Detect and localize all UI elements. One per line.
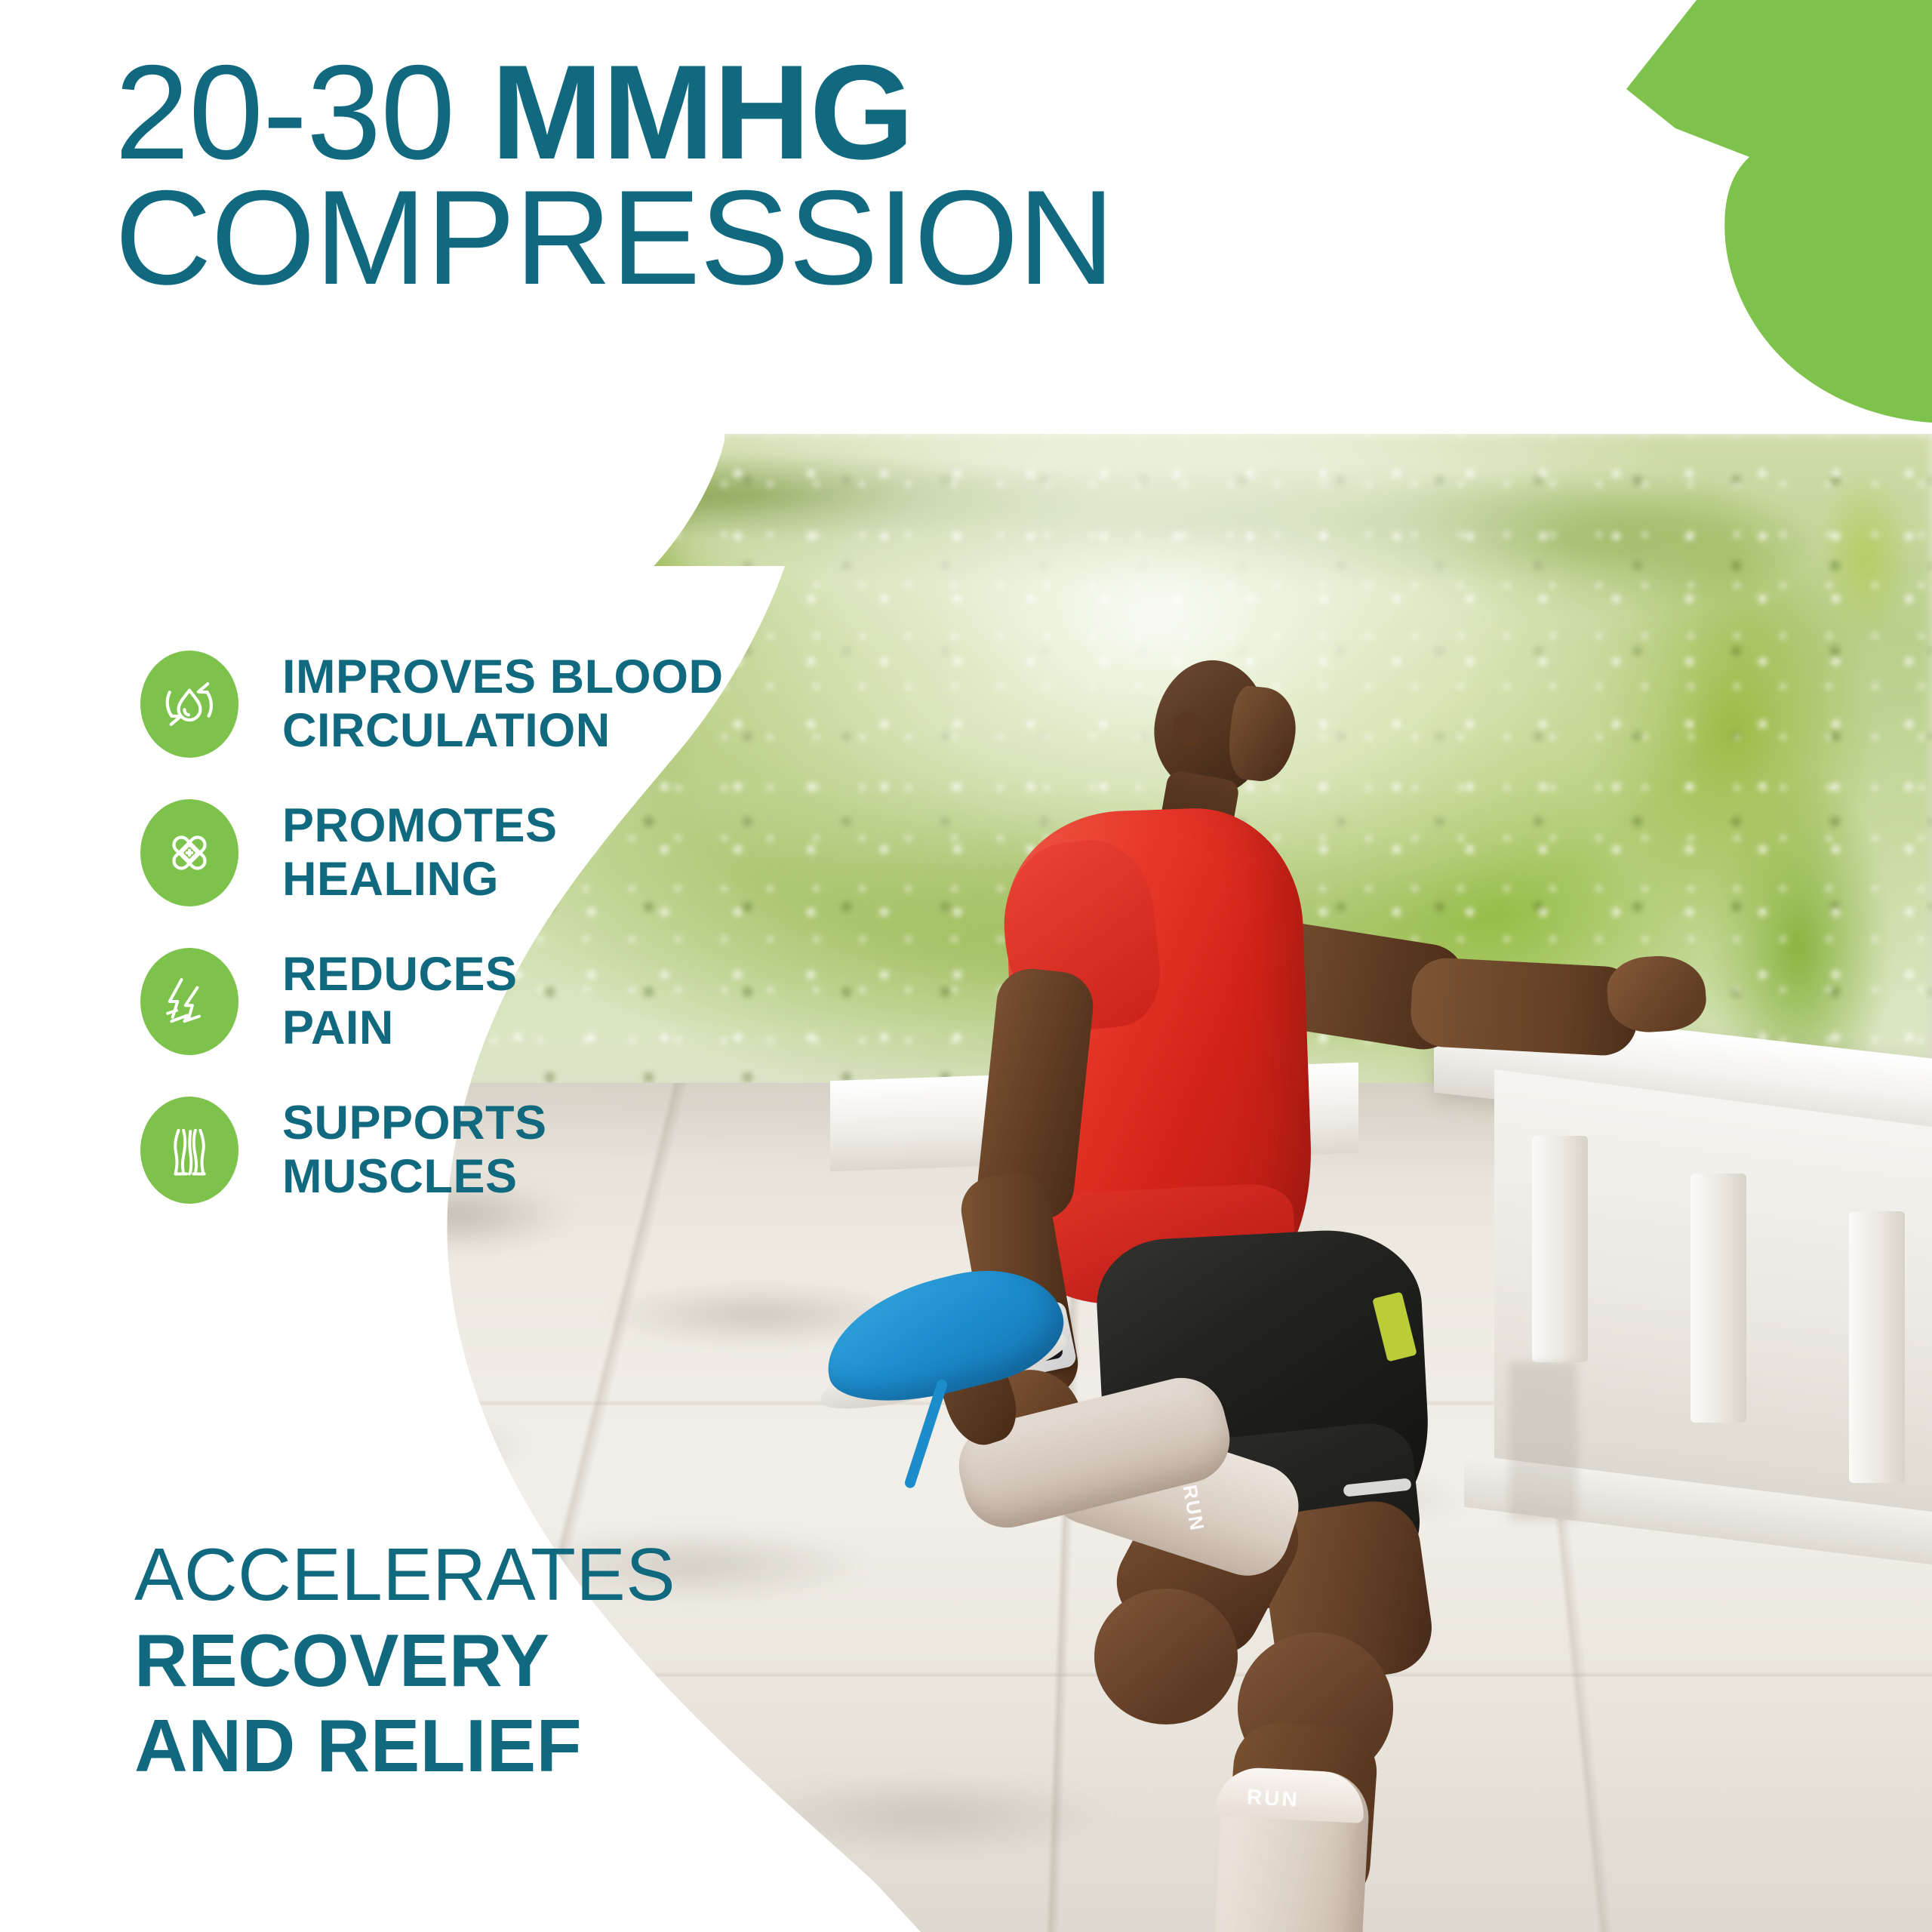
tagline-line-1: ACCELERATES	[134, 1532, 675, 1618]
benefit-item-circulation: IMPROVES BLOOD CIRCULATION	[140, 651, 895, 758]
benefit-line-1: SUPPORTS	[282, 1097, 547, 1150]
tagline-line-2: RECOVERY	[134, 1618, 675, 1704]
tagline: ACCELERATES RECOVERY AND RELIEF	[134, 1532, 675, 1789]
benefit-label-circulation: IMPROVES BLOOD CIRCULATION	[282, 651, 724, 757]
benefit-line-2: CIRCULATION	[282, 704, 724, 758]
headline: 20-30 MMHG COMPRESSION	[115, 47, 1247, 305]
lightning-pain-icon	[140, 948, 238, 1055]
tagline-line-3: AND RELIEF	[134, 1703, 675, 1789]
benefit-label-muscles: SUPPORTS MUSCLES	[282, 1097, 547, 1203]
bandage-healing-icon	[140, 799, 238, 906]
benefit-line-2: PAIN	[282, 1001, 518, 1055]
headline-line-2: COMPRESSION	[115, 171, 1247, 305]
benefit-line-2: MUSCLES	[282, 1150, 547, 1204]
benefit-item-pain: REDUCES PAIN	[140, 948, 895, 1055]
blood-circulation-icon	[140, 651, 238, 758]
benefit-label-healing: PROMOTES HEALING	[282, 799, 558, 906]
benefit-line-1: PROMOTES	[282, 799, 558, 853]
infographic-canvas: RUN RUN	[0, 0, 1932, 1932]
headline-line-1: 20-30 MMHG	[115, 47, 1247, 178]
benefit-line-1: IMPROVES BLOOD	[282, 651, 724, 704]
benefit-item-healing: PROMOTES HEALING	[140, 799, 895, 906]
benefit-label-pain: REDUCES PAIN	[282, 948, 518, 1054]
benefit-item-muscles: SUPPORTS MUSCLES	[140, 1097, 895, 1204]
benefit-line-2: HEALING	[282, 853, 558, 906]
green-blob-decoration	[1464, 0, 1932, 423]
benefits-list: IMPROVES BLOOD CIRCULATION PROMOTES HEAL…	[140, 651, 895, 1245]
legs-muscles-icon	[140, 1097, 238, 1204]
benefit-line-1: REDUCES	[282, 948, 518, 1001]
